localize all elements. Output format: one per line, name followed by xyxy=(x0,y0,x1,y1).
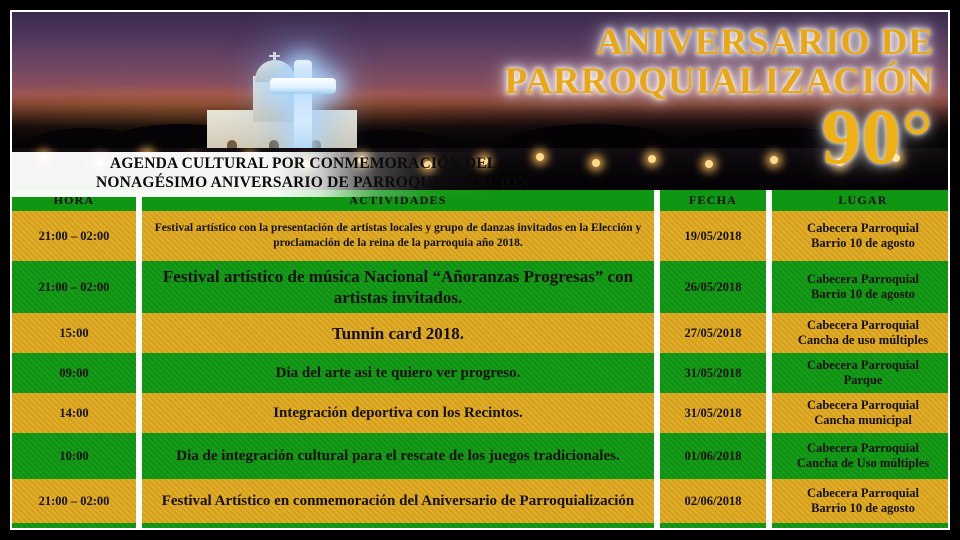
lugar-line-1: Cabecera Parroquial xyxy=(772,486,950,501)
lugar-line-2: Parque xyxy=(772,373,950,388)
cell-actividad: Tunnin card 2018. xyxy=(142,313,654,353)
actividad-list: Desfile Cívico-estudiantil. Sesión Conme… xyxy=(142,528,654,530)
cell-fecha: 31/05/2018 xyxy=(660,353,766,393)
table-body: 21:00 – 02:00 Festival artístico con la … xyxy=(12,211,950,530)
lugar-line-2: Cancha de Uso múltiples xyxy=(772,456,950,471)
table-row: 10:00 Desfile Cívico-estudiantil. Sesión… xyxy=(12,523,950,530)
lugar-line-1: Cabecera Parroquial xyxy=(772,318,950,333)
cell-lugar: Cabecera Parroquial Cancha de Uso múltip… xyxy=(772,433,950,479)
cell-hora: 21:00 – 02:00 xyxy=(12,211,136,261)
poster-root: ANIVERSARIO DE PARROQUIALIZACIÓN 90° AGE… xyxy=(0,0,960,540)
cell-actividad: Dia del arte asi te quiero ver progreso. xyxy=(142,353,654,393)
lugar-line-2: Barrio 10 de agosto xyxy=(772,501,950,516)
lugar-line-2: Barrio 10 de agosto xyxy=(772,287,950,302)
cell-actividad: Desfile Cívico-estudiantil. Sesión Conme… xyxy=(142,523,654,530)
cell-fecha: 27/05/2018 xyxy=(660,313,766,353)
table-row: 10:00 Dia de integración cultural para e… xyxy=(12,433,950,479)
table-row: 09:00 Dia del arte asi te quiero ver pro… xyxy=(12,353,950,393)
table-row: 14:00 Integración deportiva con los Reci… xyxy=(12,393,950,433)
page-title-line-1: AGENDA CULTURAL POR CONMEMORACIÓN DEL xyxy=(110,154,497,174)
list-item: Desfile Cívico-estudiantil. xyxy=(142,528,654,530)
cell-hora: 14:00 xyxy=(12,393,136,433)
agenda-table: HORA ACTIVIDADES FECHA LUGAR 21:00 – 02:… xyxy=(12,190,950,530)
table-row: 15:00 Tunnin card 2018. 27/05/2018 Cabec… xyxy=(12,313,950,353)
cell-hora: 09:00 xyxy=(12,353,136,393)
title-banner: AGENDA CULTURAL POR CONMEMORACIÓN DEL NO… xyxy=(12,152,948,197)
cell-lugar: Cabecera Parroquial Cancha municipal xyxy=(772,393,950,433)
cell-actividad: Integración deportiva con los Recintos. xyxy=(142,393,654,433)
lugar-line-2: Barrio 10 de agosto xyxy=(772,236,950,251)
cell-lugar: Cabecera Parroquial Cancha de uso múltip… xyxy=(772,313,950,353)
cell-lugar: Cabecera Parroquial Parque xyxy=(772,353,950,393)
cell-fecha: 03/06/2018 xyxy=(660,523,766,530)
cell-actividad: Festival Artístico en conmemoración del … xyxy=(142,479,654,523)
cell-hora: 10:00 xyxy=(12,523,136,530)
cell-fecha: 26/05/2018 xyxy=(660,261,766,313)
lugar-line-1: Cabecera Parroquial xyxy=(772,398,950,413)
cell-fecha: 19/05/2018 xyxy=(660,211,766,261)
cell-actividad: Festival artístico de música Nacional “A… xyxy=(142,261,654,313)
cell-actividad: Festival artístico con la presentación d… xyxy=(142,211,654,261)
church-cross-icon xyxy=(273,52,276,63)
lugar-line-2: Cancha de uso múltiples xyxy=(772,333,950,348)
lugar-line-1: Cabecera Parroquial xyxy=(772,441,950,456)
cell-hora: 15:00 xyxy=(12,313,136,353)
cell-actividad: Dia de integración cultural para el resc… xyxy=(142,433,654,479)
lugar-line-1: Cabecera Parroquial xyxy=(772,272,950,287)
cell-fecha: 31/05/2018 xyxy=(660,393,766,433)
cell-lugar: Cabecera Parroquial xyxy=(772,523,950,530)
poster-frame: ANIVERSARIO DE PARROQUIALIZACIÓN 90° AGE… xyxy=(10,10,950,530)
cell-fecha: 02/06/2018 xyxy=(660,479,766,523)
lugar-line-1: Cabecera Parroquial xyxy=(772,221,950,236)
table-row: 21:00 – 02:00 Festival Artístico en conm… xyxy=(12,479,950,523)
cell-hora: 10:00 xyxy=(12,433,136,479)
page-title-line-2: NONAGÉSIMO ANIVERSARIO DE PARROQUIALIZAC… xyxy=(96,173,529,193)
cell-lugar: Cabecera Parroquial Barrio 10 de agosto xyxy=(772,261,950,313)
cell-lugar: Cabecera Parroquial Barrio 10 de agosto xyxy=(772,479,950,523)
table-row: 21:00 – 02:00 Festival artístico de músi… xyxy=(12,261,950,313)
lugar-line-1: Cabecera Parroquial xyxy=(772,358,950,373)
lugar-line-2: Cancha municipal xyxy=(772,413,950,428)
cell-fecha: 01/06/2018 xyxy=(660,433,766,479)
cell-lugar: Cabecera Parroquial Barrio 10 de agosto xyxy=(772,211,950,261)
cell-hora: 21:00 – 02:00 xyxy=(12,479,136,523)
table-row: 21:00 – 02:00 Festival artístico con la … xyxy=(12,211,950,261)
cell-hora: 21:00 – 02:00 xyxy=(12,261,136,313)
